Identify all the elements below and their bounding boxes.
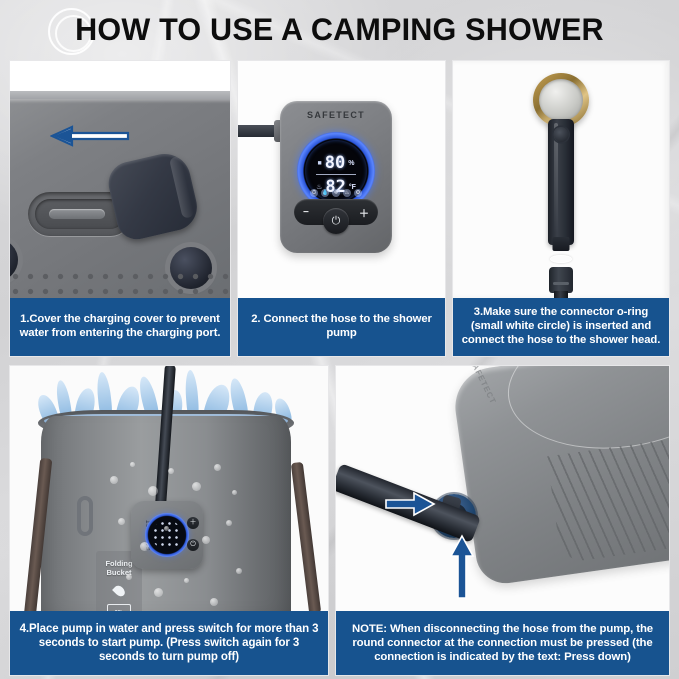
o-ring-icon [550, 255, 572, 263]
plus-button[interactable]: ＋ [359, 205, 369, 220]
droplet-icon: 💧 [321, 189, 329, 197]
vent-dot-pattern [10, 269, 230, 298]
step-card-3: 3.Make sure the connector o-ring (small … [452, 60, 670, 357]
step-4-photo: Folding Bucket 20L SAFETECT ＋ ⏻ [10, 366, 328, 611]
page-title-bar: HOW TO USE A CAMPING SHOWER [0, 0, 679, 58]
step-4-caption: 4.Place pump in water and press switch f… [10, 611, 328, 675]
lcd-divider [316, 174, 356, 175]
step-5-photo: SAFETECT [336, 366, 669, 611]
step-card-2: SAFETECT ■ 80 % ♨ 82 [237, 60, 446, 357]
lcd-mode-icons: ⏱ 💧 ❄ ♨ ⚙ [305, 189, 367, 197]
led-display-panel: ■ 80 % ♨ 82 °F ⏱ [305, 140, 367, 202]
pump-brand-label: SAFETECT [280, 110, 392, 120]
step-2-photo: SAFETECT ■ 80 % ♨ 82 [238, 61, 445, 298]
step-3-caption: 3.Make sure the connector o-ring (small … [453, 298, 669, 356]
step-card-4: Folding Bucket 20L SAFETECT ＋ ⏻ [9, 365, 329, 676]
water-bubbles [106, 456, 256, 611]
minus-button[interactable]: − [303, 207, 309, 218]
timer-icon: ⏱ [310, 189, 318, 197]
shower-pump: SAFETECT ■ 80 % ♨ 82 [280, 101, 392, 253]
lcd-battery-unit: % [348, 160, 354, 167]
usb-c-port-icon [49, 209, 105, 219]
step-1-photo [10, 61, 230, 298]
arrow-right-icon [384, 491, 436, 517]
connector-icon [549, 267, 573, 293]
power-button[interactable]: ⏻ [323, 208, 349, 234]
step-card-1: 1.Cover the charging cover to prevent wa… [9, 60, 231, 357]
step-5-caption: NOTE: When disconnecting the hose from t… [336, 611, 669, 675]
flame-icon: ♨ [343, 189, 351, 197]
pump-vent-slots [547, 434, 669, 564]
gear-icon: ⚙ [354, 189, 362, 197]
shower-head-face [539, 79, 583, 121]
step-3-photo [453, 61, 669, 298]
handle-collar [553, 237, 570, 251]
lcd-display: ■ 80 % ♨ 82 °F ⏱ [305, 140, 367, 202]
snowflake-icon: ❄ [332, 189, 340, 197]
lcd-battery-row: ■ 80 % [313, 152, 359, 174]
handle-switch-button[interactable] [554, 127, 569, 142]
rubber-cover-icon [104, 149, 201, 243]
page-title: HOW TO USE A CAMPING SHOWER [75, 11, 604, 48]
left-arrow-icon [50, 125, 130, 147]
arrow-up-icon [448, 534, 476, 600]
battery-icon: ■ [318, 160, 322, 167]
pump-body: SAFETECT [450, 366, 669, 587]
step-2-caption: 2. Connect the hose to the shower pump [238, 298, 445, 356]
step-card-5: SAFETECT NOTE: When disconnecting the ho… [335, 365, 670, 676]
bucket-handle-loop [77, 496, 93, 536]
hose-icon [554, 291, 568, 298]
steps-grid: 1.Cover the charging cover to prevent wa… [0, 58, 679, 679]
lcd-battery-value: 80 [325, 155, 345, 172]
step-1-caption: 1.Cover the charging cover to prevent wa… [10, 298, 230, 356]
